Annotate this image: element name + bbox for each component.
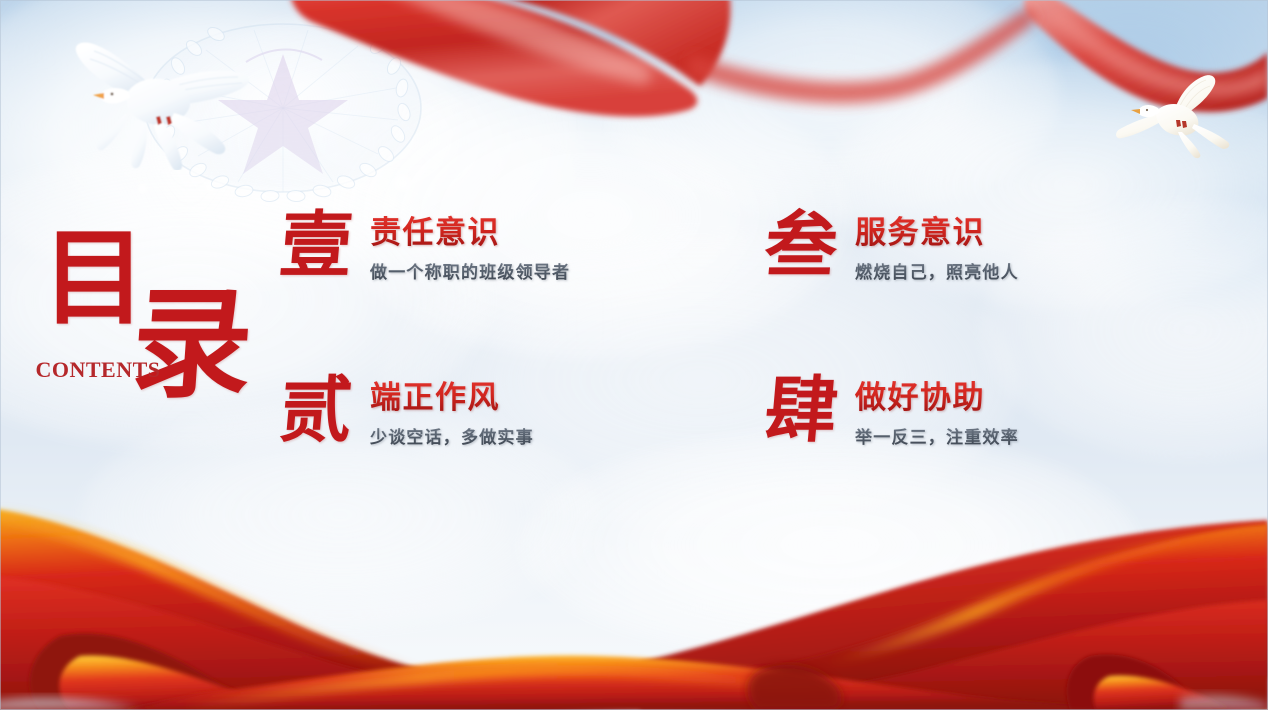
item-title: 责任意识: [370, 215, 570, 251]
item-title: 服务意识: [855, 215, 1019, 251]
item-numeral: 壹: [267, 209, 366, 285]
title-char-lu: 录: [128, 286, 256, 406]
contents-item-2[interactable]: 贰 端正作风 少谈空话，多做实事: [270, 370, 534, 450]
title-english-label: CONTENTS: [28, 356, 168, 384]
item-text-block: 责任意识 做一个称职的班级领导者: [362, 205, 570, 283]
page-title: 目 录 CONTENTS: [28, 228, 266, 408]
slide-content: 目 录 CONTENTS 壹 责任意识 做一个称职的班级领导者 贰 端正作风 少…: [0, 0, 1268, 710]
contents-item-3[interactable]: 叁 服务意识 燃烧自己，照亮他人: [755, 205, 1019, 285]
item-title: 端正作风: [370, 380, 534, 416]
item-subtitle: 举一反三，注重效率: [855, 427, 1019, 448]
item-subtitle: 燃烧自己，照亮他人: [855, 262, 1019, 283]
contents-item-1[interactable]: 壹 责任意识 做一个称职的班级领导者: [270, 205, 570, 285]
title-char-mu: 目: [42, 228, 146, 332]
item-subtitle: 做一个称职的班级领导者: [370, 262, 570, 283]
contents-item-4[interactable]: 肆 做好协助 举一反三，注重效率: [755, 370, 1019, 450]
item-numeral: 肆: [752, 374, 851, 450]
item-numeral: 叁: [752, 209, 851, 285]
item-text-block: 端正作风 少谈空话，多做实事: [362, 370, 534, 448]
item-subtitle: 少谈空话，多做实事: [370, 427, 534, 448]
item-text-block: 做好协助 举一反三，注重效率: [847, 370, 1019, 448]
item-title: 做好协助: [855, 380, 1019, 416]
item-numeral: 贰: [267, 374, 366, 450]
presentation-slide: 目 录 CONTENTS 壹 责任意识 做一个称职的班级领导者 贰 端正作风 少…: [0, 0, 1268, 710]
item-text-block: 服务意识 燃烧自己，照亮他人: [847, 205, 1019, 283]
